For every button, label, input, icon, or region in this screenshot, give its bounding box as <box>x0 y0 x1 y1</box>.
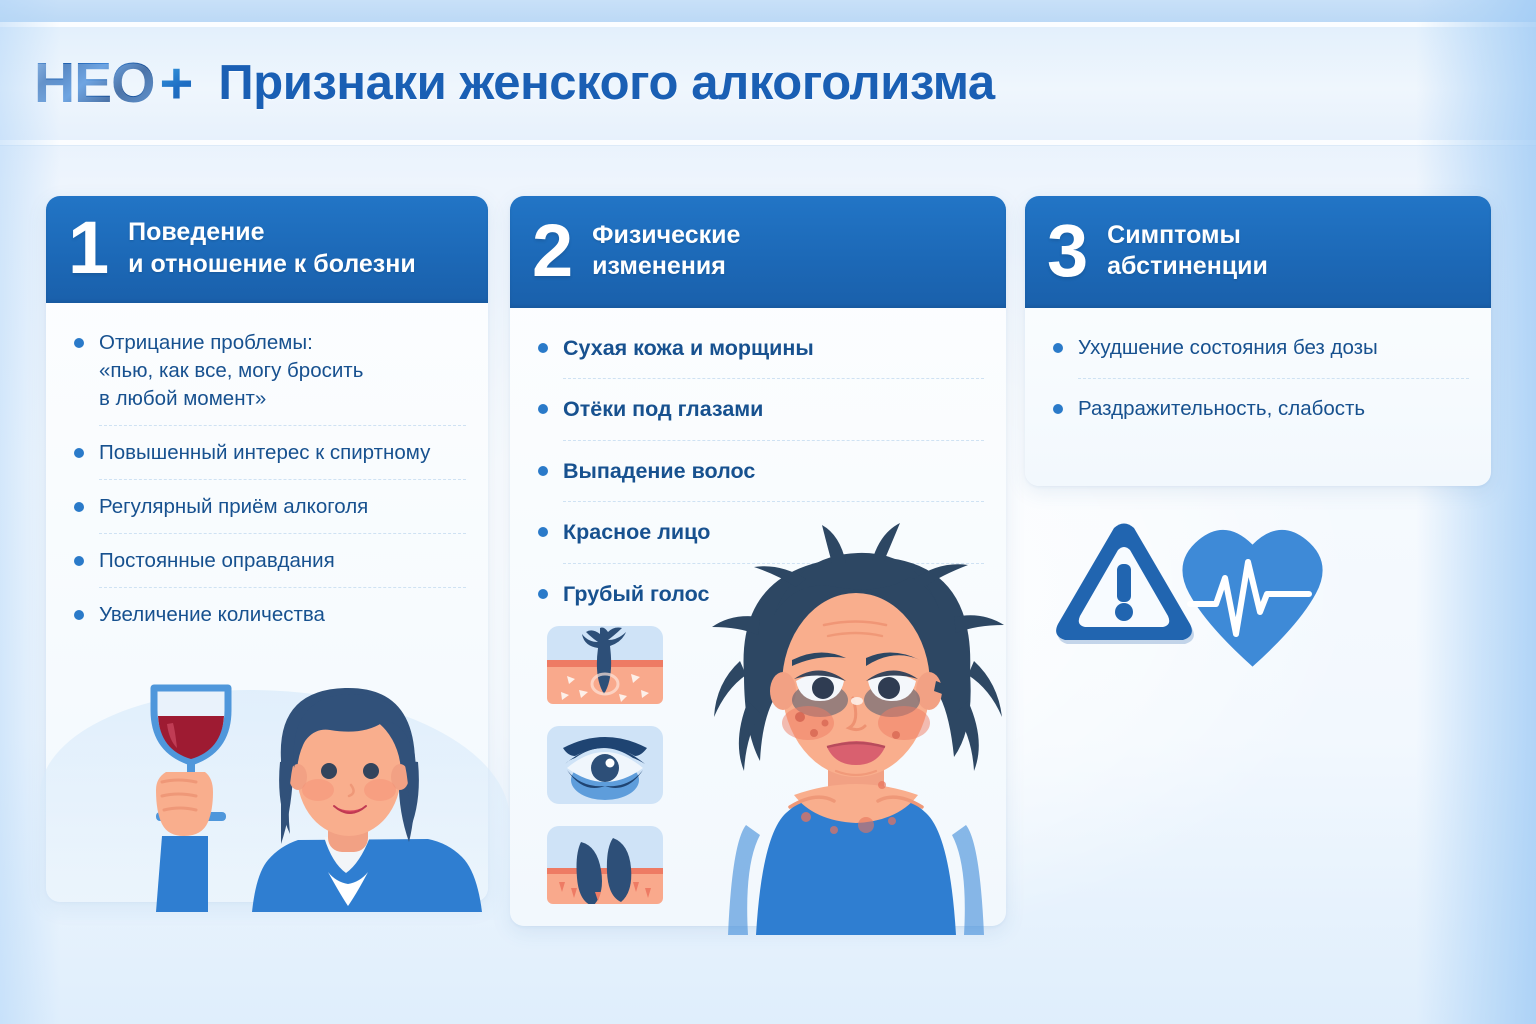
warning-triangle-icon <box>1056 524 1194 645</box>
list-divider <box>563 563 984 564</box>
list-item-line: Регулярный приём алкоголя <box>99 493 466 521</box>
list-item-line: Раздражительность, слабость <box>1078 397 1365 420</box>
top-accent-strip <box>0 0 1536 22</box>
list-divider <box>563 378 984 379</box>
bullet-dot-icon <box>74 448 84 458</box>
list-divider <box>1078 378 1469 379</box>
card-physical-changes-body: Сухая кожа и морщины Отёки под глазами В… <box>510 308 1006 629</box>
warning-and-heart-illustration <box>1050 508 1340 688</box>
page-header: НЕО+ Признаки женского алкоголизма <box>0 27 1536 140</box>
card-withdrawal-symptoms-title-line2: абстиненции <box>1107 251 1268 282</box>
bullet-dot-icon <box>74 610 84 620</box>
list-item: Увеличение количества <box>72 601 466 629</box>
card-physical-changes-title-line1: Физические <box>592 221 740 249</box>
card-withdrawal-symptoms-number: 3 <box>1047 220 1088 282</box>
list-item-line: в любой момент» <box>99 385 466 413</box>
bullet-dot-icon <box>1053 343 1063 353</box>
card-physical-changes-title-line2: изменения <box>592 251 740 282</box>
list-divider <box>99 425 466 426</box>
bullet-dot-icon <box>538 343 548 353</box>
list-item-line: Отёки под глазами <box>563 397 763 421</box>
list-item: Отрицание проблемы: «пью, как все, могу … <box>72 329 466 426</box>
brand-logo[interactable]: НЕО+ <box>34 55 192 113</box>
card-withdrawal-symptoms-title: Симптомы абстиненции <box>1107 220 1268 283</box>
list-item: Выпадение волос <box>536 457 984 502</box>
list-divider <box>99 533 466 534</box>
list-item: Сухая кожа и морщины <box>536 334 984 379</box>
list-item-line: Выпадение волос <box>563 459 755 483</box>
list-item-line: Увеличение количества <box>99 601 466 629</box>
right-edge-gradient <box>1416 0 1536 1024</box>
card-behaviour-title: Поведение и отношение к болезни <box>128 217 416 280</box>
bullet-dot-icon <box>538 404 548 414</box>
bullet-dot-icon <box>1053 404 1063 414</box>
list-item: Отёки под глазами <box>536 395 984 440</box>
card-physical-changes-list: Сухая кожа и морщины Отёки под глазами В… <box>536 334 984 609</box>
list-divider <box>99 479 466 480</box>
card-physical-changes-title: Физические изменения <box>592 220 740 283</box>
card-withdrawal-symptoms-header: 3 Симптомы абстиненции <box>1025 196 1491 308</box>
card-behaviour-title-line2: и отношение к болезни <box>128 249 416 280</box>
card-behaviour-title-line1: Поведение <box>128 218 264 246</box>
bullet-dot-icon <box>538 466 548 476</box>
list-item: Красное лицо <box>536 518 984 563</box>
list-divider <box>99 587 466 588</box>
bullet-dot-icon <box>74 556 84 566</box>
card-behaviour-number: 1 <box>68 217 109 279</box>
list-item: Повышенный интерес к спиртному <box>72 439 466 480</box>
list-item-line: Отрицание проблемы: <box>99 329 466 357</box>
card-withdrawal-symptoms-list: Ухудшение состояния без дозы Раздражител… <box>1051 334 1469 423</box>
list-item: Регулярный приём алкоголя <box>72 493 466 534</box>
card-physical-changes-header: 2 Физические изменения <box>510 196 1006 308</box>
bullet-dot-icon <box>538 527 548 537</box>
bullet-dot-icon <box>538 589 548 599</box>
bullet-dot-icon <box>74 338 84 348</box>
header-underline <box>0 140 1536 146</box>
card-behaviour-list: Отрицание проблемы: «пью, как все, могу … <box>72 329 466 630</box>
list-divider <box>563 440 984 441</box>
infographic-page: НЕО+ Признаки женского алкоголизма 1 Пов… <box>0 0 1536 1024</box>
brand-logo-plus-icon: + <box>160 55 193 113</box>
card-withdrawal-symptoms: 3 Симптомы абстиненции Ухудшение состоян… <box>1025 196 1491 486</box>
brand-logo-text: НЕО <box>34 55 155 112</box>
card-withdrawal-symptoms-title-line1: Симптомы <box>1107 221 1241 249</box>
page-title: Признаки женского алкоголизма <box>218 59 994 108</box>
list-item: Постоянные оправдания <box>72 547 466 588</box>
card-withdrawal-symptoms-body: Ухудшение состояния без дозы Раздражител… <box>1025 308 1491 443</box>
card-physical-changes: 2 Физические изменения Сухая кожа и морщ… <box>510 196 1006 926</box>
list-item-line: Ухудшение состояния без дозы <box>1078 336 1378 359</box>
list-item: Грубый голос <box>536 580 984 609</box>
list-item-line: Повышенный интерес к спиртному <box>99 439 466 467</box>
list-item-line: Красное лицо <box>563 520 710 544</box>
card-physical-changes-number: 2 <box>532 220 573 282</box>
list-item-line: «пью, как все, могу бросить <box>99 357 466 385</box>
bullet-dot-icon <box>74 502 84 512</box>
list-item: Ухудшение состояния без дозы <box>1051 334 1469 379</box>
card-behaviour: 1 Поведение и отношение к болезни Отрица… <box>46 196 488 902</box>
card-behaviour-header: 1 Поведение и отношение к болезни <box>46 196 488 303</box>
card-behaviour-body: Отрицание проблемы: «пью, как все, могу … <box>46 303 488 650</box>
list-item: Раздражительность, слабость <box>1051 395 1469 423</box>
list-item-line: Грубый голос <box>563 582 709 606</box>
list-divider <box>563 501 984 502</box>
list-item-line: Постоянные оправдания <box>99 547 466 575</box>
list-item-line: Сухая кожа и морщины <box>563 336 814 360</box>
heart-pulse-icon <box>1182 530 1322 667</box>
